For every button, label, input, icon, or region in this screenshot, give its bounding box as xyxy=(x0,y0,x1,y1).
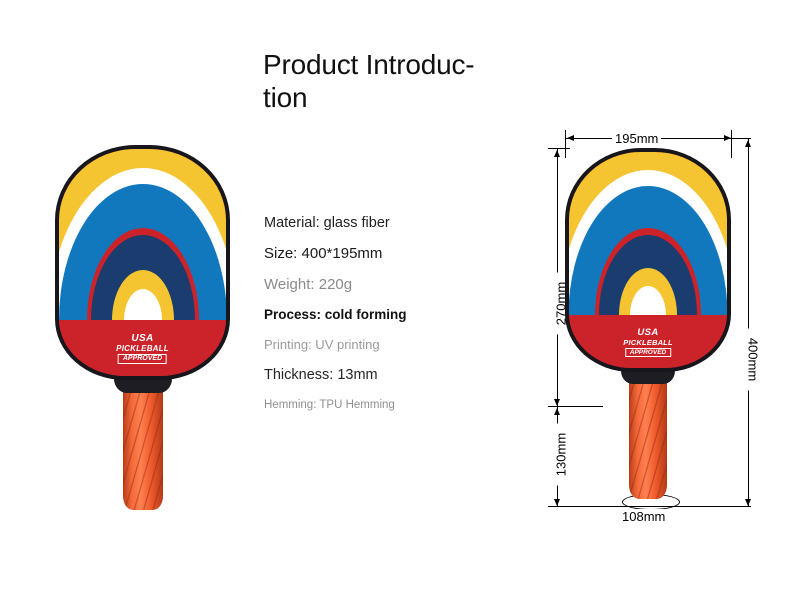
arrow-total-bottom xyxy=(745,499,751,506)
dim-label-handle: 130mm xyxy=(554,424,569,486)
paddle-face: USA PICKLEBALL APPROVED xyxy=(55,145,230,380)
ext-line-face-top xyxy=(548,148,570,149)
paddle-grip-right xyxy=(629,377,667,499)
spec-weight: Weight: 220g xyxy=(264,269,494,300)
spec-printing: Printing: UV printing xyxy=(264,329,494,360)
paddle-face-dimensioned: USA PICKLEBALL APPROVED xyxy=(565,148,731,372)
dim-line-total-height xyxy=(748,139,749,506)
paddle-illustration-left: USA PICKLEBALL APPROVED xyxy=(55,145,230,505)
dim-label-total-height: 400mm xyxy=(746,329,761,391)
page-title-line-2: tion xyxy=(263,81,513,114)
paddle-grip xyxy=(123,385,163,510)
badge-approved-text: APPROVED xyxy=(118,354,167,364)
badge-pickleball-text-right: PICKLEBALL xyxy=(623,339,673,347)
page-title-line-1: Product Introduc- xyxy=(263,48,513,81)
page-title: Product Introduc- tion xyxy=(263,48,513,114)
arrow-face-bottom xyxy=(554,399,560,406)
usa-pickleball-badge: USA PICKLEBALL APPROVED xyxy=(116,334,169,364)
specification-list: Material: glass fiber Size: 400*195mm We… xyxy=(264,208,494,419)
badge-pickleball-text: PICKLEBALL xyxy=(116,345,169,354)
badge-approved-text-right: APPROVED xyxy=(625,348,671,357)
spec-size: Size: 400*195mm xyxy=(264,238,494,269)
arrow-total-top xyxy=(745,140,751,147)
ext-line-width-left xyxy=(565,130,566,158)
spec-material: Material: glass fiber xyxy=(264,208,494,238)
arrow-width-left xyxy=(567,135,574,141)
spec-hemming: Hemming: TPU Hemming xyxy=(264,391,494,419)
arrow-handle-top xyxy=(554,408,560,415)
ext-line-width-right xyxy=(731,130,732,158)
arrow-handle-bottom xyxy=(554,499,560,506)
usa-pickleball-badge-right: USA PICKLEBALL APPROVED xyxy=(623,328,673,357)
dim-label-width: 195mm xyxy=(612,131,661,146)
arrow-face-top xyxy=(554,150,560,157)
paddle-illustration-right: USA PICKLEBALL APPROVED xyxy=(565,148,731,498)
spec-process: Process: cold forming xyxy=(264,300,494,329)
spec-thickness: Thickness: 13mm xyxy=(264,360,494,391)
dim-label-grip-circumference: 108mm xyxy=(619,509,668,524)
